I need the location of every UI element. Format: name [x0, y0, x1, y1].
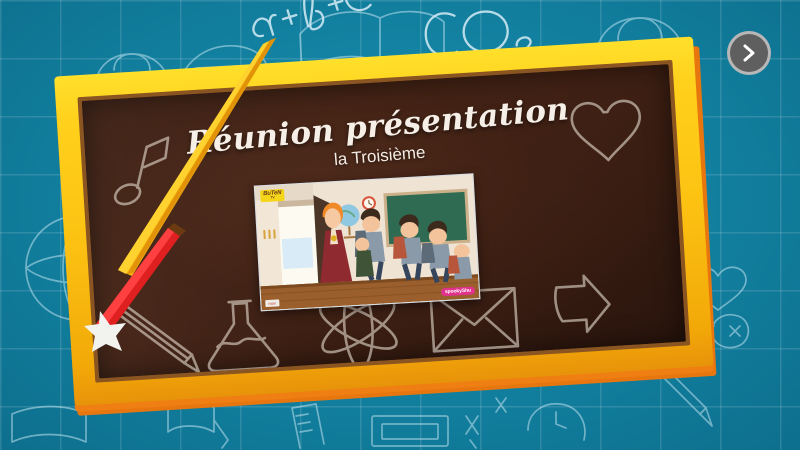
thumbnail-logo: BuTeN TV — [260, 189, 285, 202]
clock-doodle — [528, 404, 585, 440]
chalkboard-frame: Réunion présentation la Troisième — [54, 36, 713, 406]
notebook-doodle-bottom — [372, 416, 448, 446]
pencil-icon — [117, 300, 199, 377]
slide-stage: Réunion présentation la Troisième — [0, 0, 800, 450]
ruler-doodle — [292, 404, 324, 448]
heart-icon — [571, 100, 643, 162]
chalkboard-surface: Réunion présentation la Troisième — [82, 64, 686, 378]
arrow-icon — [554, 274, 611, 333]
thumbnail-corner-badge: mov — [265, 299, 279, 307]
chalkboard: Réunion présentation la Troisième — [47, 24, 728, 425]
music-note-icon — [109, 138, 172, 208]
chevron-right-icon — [741, 43, 757, 63]
formula-doodle — [247, 0, 373, 46]
next-slide-button[interactable] — [727, 31, 771, 75]
video-thumbnail[interactable]: BuTeN TV spookyShu mov — [254, 173, 481, 311]
star-doodle — [466, 398, 506, 448]
